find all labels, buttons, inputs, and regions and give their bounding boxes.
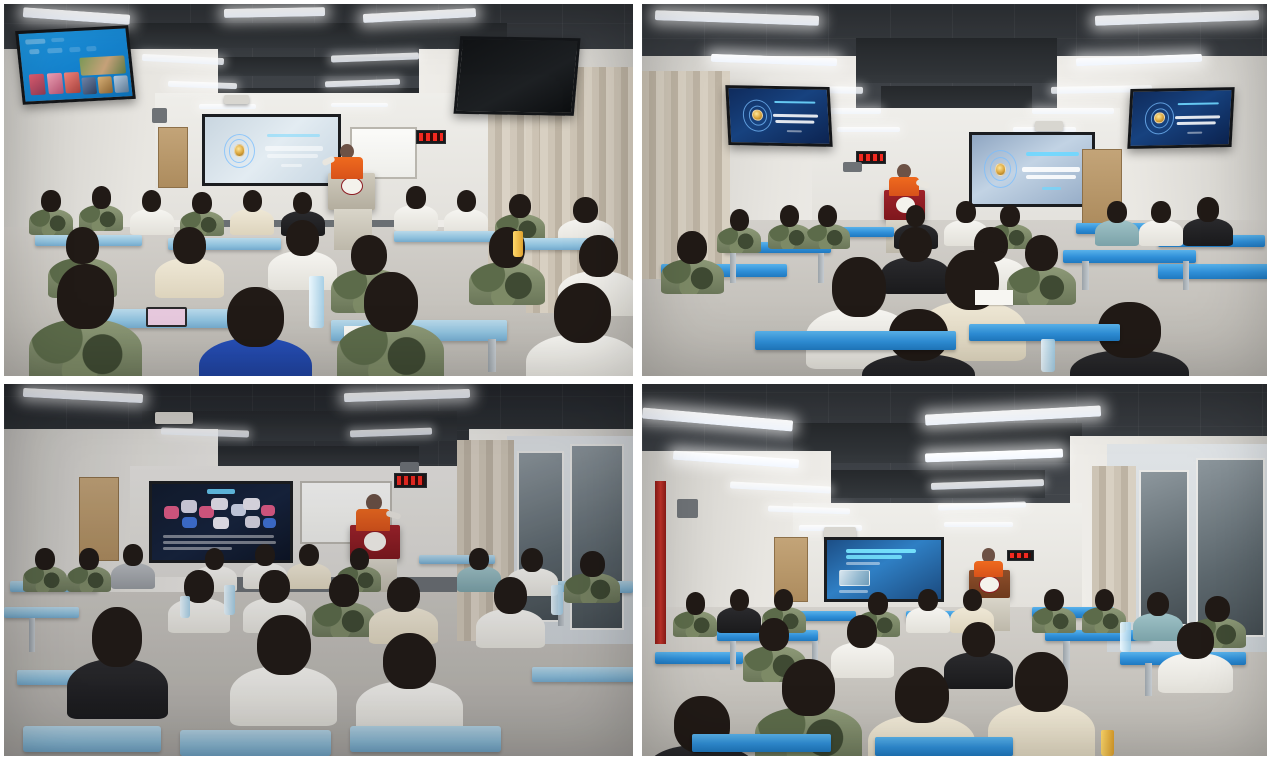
person-torso <box>168 598 231 633</box>
slide-title-line <box>265 146 323 151</box>
audience-person <box>79 186 123 231</box>
person-head <box>1107 201 1126 223</box>
person-head <box>1151 201 1170 223</box>
diagram-node <box>263 518 277 529</box>
ceiling-projector <box>224 95 249 104</box>
ceiling-lamp <box>944 522 1013 528</box>
audience-person <box>168 570 231 633</box>
ceiling-lamp <box>331 103 388 108</box>
person-head <box>1025 235 1058 272</box>
person-head <box>255 544 274 566</box>
photo-collage <box>0 0 1267 760</box>
diagram-node <box>182 517 197 528</box>
person-head <box>35 548 54 570</box>
person-head <box>774 589 793 611</box>
person-head <box>92 186 111 208</box>
desk-leg <box>1082 261 1088 291</box>
tablet-device[interactable] <box>146 307 188 327</box>
person-head <box>79 548 98 570</box>
person-head <box>956 201 975 223</box>
tv-thumbnail[interactable] <box>64 72 81 93</box>
left-tv-display[interactable] <box>725 85 832 146</box>
tv-ui-topbar <box>51 38 64 43</box>
person-head <box>364 272 417 332</box>
water-bottle <box>1041 339 1055 372</box>
wall-speaker <box>400 462 419 472</box>
diagram-node <box>164 506 179 519</box>
diagram-node <box>245 516 260 527</box>
led-clock <box>416 130 446 143</box>
person-torso <box>476 609 545 649</box>
person-head <box>1015 652 1068 712</box>
ceiling-lamp <box>199 104 256 109</box>
person-head <box>782 659 835 715</box>
slide-title-line <box>1022 167 1080 172</box>
led-clock <box>1007 550 1034 562</box>
tv-thumbnail[interactable] <box>113 75 129 93</box>
speaker-body <box>331 157 362 179</box>
notebook <box>975 290 1013 305</box>
diagram-node <box>181 500 198 512</box>
tv-ui-navitem <box>87 46 97 51</box>
audience-person <box>394 186 438 231</box>
person-head <box>350 548 369 570</box>
person-torso <box>717 227 761 253</box>
person-head <box>1147 592 1169 616</box>
audience-person <box>1139 201 1183 246</box>
student-desk <box>755 331 956 350</box>
foreground-person <box>337 272 444 376</box>
water-bottle <box>551 585 562 615</box>
person-head <box>573 197 598 223</box>
person-head <box>469 548 488 570</box>
audience-person <box>661 231 724 294</box>
person-torso <box>806 224 850 250</box>
foreground-person <box>230 615 337 727</box>
person-head <box>906 205 925 227</box>
foreground-person <box>67 607 168 719</box>
slide-emblem <box>995 163 1007 176</box>
led-clock-digits <box>419 133 443 140</box>
wall-speaker <box>677 499 698 518</box>
classroom-scene <box>4 4 633 376</box>
person-head <box>286 220 319 257</box>
collage-panel-top-right[interactable] <box>642 4 1267 376</box>
projection-screen <box>969 132 1095 206</box>
led-clock <box>394 473 427 488</box>
person-head <box>351 235 387 276</box>
person-head <box>730 589 749 611</box>
person-head <box>847 615 877 648</box>
desk-leg <box>29 618 35 651</box>
desk-leg <box>1183 261 1189 291</box>
person-head <box>918 589 937 611</box>
seat-back <box>350 726 501 752</box>
classroom-scene <box>642 384 1267 756</box>
person-head <box>406 186 425 208</box>
classroom-scene <box>4 384 633 756</box>
person-head <box>759 618 789 651</box>
person-head <box>818 205 837 227</box>
person-head <box>299 544 318 566</box>
person-head <box>1044 589 1063 611</box>
person-torso <box>23 566 67 592</box>
person-torso <box>1158 653 1233 693</box>
tv-thumbnail[interactable] <box>97 76 113 94</box>
slide-title-line <box>1175 115 1220 119</box>
person-head <box>383 633 436 689</box>
person-head <box>257 615 310 675</box>
audience-person <box>111 544 155 589</box>
person-torso <box>268 251 337 291</box>
slide-title-line <box>846 555 903 558</box>
slide-title-line <box>846 562 880 565</box>
audience-person <box>67 548 111 593</box>
wall-speaker <box>152 108 167 123</box>
person-head <box>205 548 224 570</box>
person-torso <box>1032 607 1076 633</box>
student-desk <box>875 737 1013 756</box>
diagram-node <box>261 505 275 516</box>
person-head <box>509 194 531 218</box>
slide-title-line <box>775 120 814 124</box>
tv-ui-topbar <box>26 39 46 45</box>
person-head <box>243 190 262 212</box>
speaker-body <box>974 561 1003 578</box>
slide-subtitle-line <box>1042 187 1061 190</box>
audience-person <box>806 205 850 250</box>
person-head <box>227 287 284 347</box>
person-head <box>868 592 887 614</box>
collage-panel-top-left[interactable] <box>4 4 633 376</box>
person-head <box>41 190 60 212</box>
audience-person <box>717 209 761 254</box>
diagram-node <box>243 498 260 510</box>
audience-person <box>268 220 337 291</box>
collage-panel-bottom-right[interactable] <box>642 384 1267 756</box>
slide-header-line <box>1178 102 1219 105</box>
student-desk <box>1158 264 1267 279</box>
ceiling-projector <box>155 412 193 424</box>
person-head <box>192 192 211 214</box>
speaker-body <box>889 177 919 196</box>
tv-ui-navitem <box>29 49 40 54</box>
person-head <box>780 205 799 227</box>
person-torso <box>1183 218 1233 246</box>
person-head <box>387 577 420 612</box>
audience-person <box>1095 201 1139 246</box>
tv-thumbnail[interactable] <box>79 56 126 76</box>
speaker-body <box>356 509 390 531</box>
slide-title-line <box>846 549 916 553</box>
person-head <box>686 592 705 614</box>
ceiling-duct <box>130 23 507 48</box>
person-head <box>895 667 948 723</box>
person-head <box>92 607 142 667</box>
collage-panel-bottom-left[interactable] <box>4 384 633 756</box>
right-tv-display[interactable] <box>453 37 580 117</box>
ceiling-duct <box>193 446 419 467</box>
student-desk <box>532 667 633 682</box>
person-head <box>494 577 527 614</box>
classroom-door[interactable] <box>158 127 188 189</box>
diagram-node <box>211 498 228 510</box>
foreground-person <box>29 264 142 376</box>
tv-thumbnail[interactable] <box>81 77 97 95</box>
tv-ui-navitem <box>70 47 81 52</box>
tv-thumbnail[interactable] <box>29 74 46 95</box>
student-desk <box>692 734 830 753</box>
water-bottle <box>513 231 522 257</box>
person-head <box>1177 622 1213 659</box>
slide-title-line <box>267 154 317 158</box>
person-torso <box>230 666 337 726</box>
wall-speaker <box>843 162 862 172</box>
person-head <box>259 570 289 603</box>
seat-back <box>23 726 161 752</box>
diagram-node <box>213 517 230 529</box>
led-clock-digits <box>859 154 883 161</box>
slide-header-line <box>1026 152 1079 156</box>
desk-leg <box>1145 663 1152 696</box>
water-bottle <box>1101 730 1114 756</box>
slide-title-line <box>207 489 235 494</box>
standpipe <box>655 481 666 645</box>
water-bottle <box>224 585 235 615</box>
person-torso <box>1095 220 1139 246</box>
slide-body-line <box>163 535 274 538</box>
person-head <box>329 574 359 607</box>
slide-header-line <box>774 101 815 104</box>
audience-person <box>1158 622 1233 693</box>
tv-ui-navitem <box>47 48 62 54</box>
person-torso <box>67 566 111 592</box>
slide-emblem <box>234 144 245 157</box>
desk-leg <box>730 253 736 283</box>
foreground-person <box>526 283 633 376</box>
audience-person <box>1183 197 1233 245</box>
foreground-person <box>356 633 463 737</box>
desk-leg <box>488 339 496 372</box>
audience-person <box>673 592 717 637</box>
person-head <box>579 235 618 278</box>
classroom-scene <box>642 4 1267 376</box>
led-clock-digits <box>397 476 424 485</box>
ceiling-duct <box>856 38 1057 82</box>
audience-person <box>476 577 545 648</box>
person-torso <box>394 205 438 231</box>
projection-screen <box>202 114 340 187</box>
slide-title-line <box>1177 121 1216 125</box>
slide-subtitle-line <box>786 130 802 132</box>
person-head <box>730 209 749 231</box>
seat-back <box>180 730 331 756</box>
person-torso <box>564 573 621 603</box>
person-head <box>1095 589 1114 611</box>
person-head <box>57 264 114 328</box>
audience-person <box>564 551 621 603</box>
person-head <box>677 231 707 264</box>
person-head <box>173 227 206 264</box>
person-torso <box>661 259 724 294</box>
ceiling-lamp <box>837 127 900 132</box>
person-torso <box>673 611 717 637</box>
foreground-person <box>199 287 312 376</box>
desk-leg <box>730 641 736 671</box>
person-head <box>521 548 543 572</box>
audience-person <box>1032 589 1076 634</box>
slide-image <box>839 570 871 586</box>
slide-subtitle-line <box>1187 131 1203 133</box>
person-head <box>580 551 605 577</box>
audience-person <box>23 548 67 593</box>
person-head <box>1205 596 1230 622</box>
person-head <box>142 190 161 212</box>
person-torso <box>67 659 168 719</box>
ceiling-lamp <box>224 7 325 18</box>
person-head <box>66 227 99 264</box>
right-tv-display[interactable] <box>1128 87 1235 148</box>
person-torso <box>1139 220 1183 246</box>
slide-subtitle-line <box>281 164 302 167</box>
person-head <box>1000 205 1019 227</box>
ceiling-lamp <box>1032 108 1114 114</box>
person-torso <box>111 563 155 589</box>
led-clock-digits <box>1010 553 1031 559</box>
media-tv-display[interactable] <box>15 25 136 105</box>
slide-title-line <box>773 113 818 117</box>
slide-header-line <box>267 134 320 137</box>
person-head <box>123 544 142 566</box>
person-head <box>293 192 312 214</box>
person-head <box>457 190 476 212</box>
ceiling-projector <box>1035 121 1063 131</box>
water-bottle <box>180 596 190 618</box>
tv-thumbnail[interactable] <box>46 73 63 94</box>
water-bottle <box>1120 622 1131 652</box>
person-head <box>554 283 611 343</box>
person-head <box>963 589 982 611</box>
slide-title-line <box>1026 175 1076 179</box>
person-head <box>1197 197 1219 221</box>
